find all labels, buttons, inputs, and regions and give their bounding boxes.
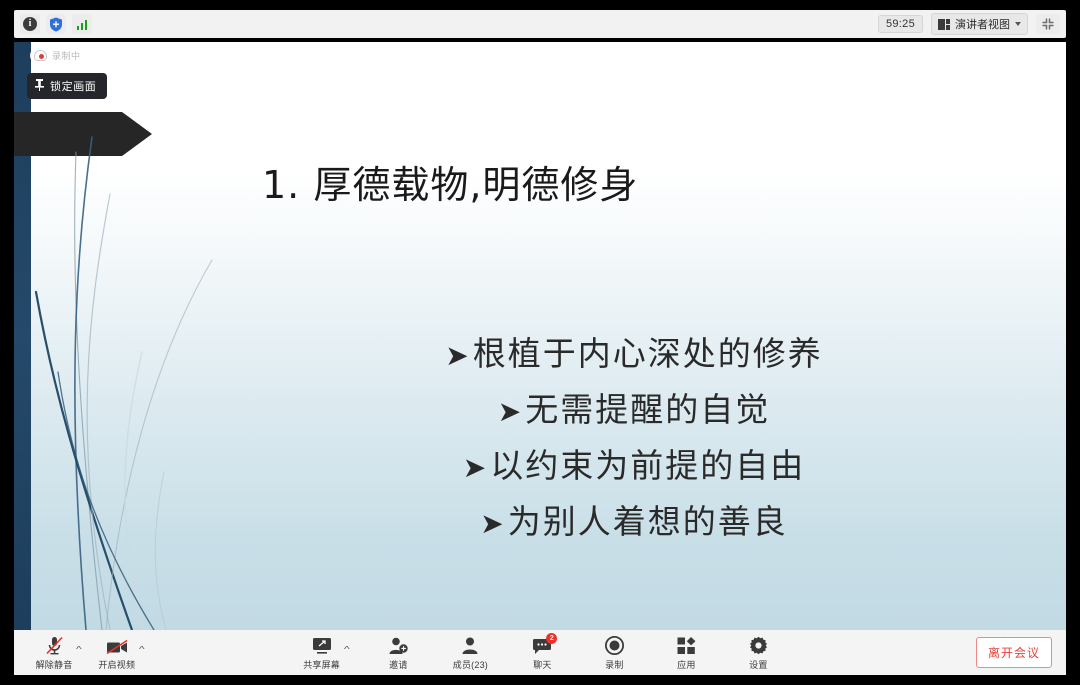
chat-button[interactable]: 2 聊天	[520, 635, 564, 671]
top-toolbar: i 59:25 演讲者视图	[14, 10, 1066, 38]
slide-bullet-list: ➤根植于内心深处的修养 ➤无需提醒的自觉 ➤以约束为前提的自由 ➤为别人着想的善…	[314, 327, 954, 551]
share-options-chevron-icon[interactable]: ^	[344, 645, 350, 654]
leave-meeting-button[interactable]: 离开会议	[976, 637, 1052, 668]
view-mode-label: 演讲者视图	[955, 16, 1010, 32]
slide-title: 1. 厚德载物,明德修身	[262, 154, 638, 209]
shield-security-icon[interactable]	[46, 14, 66, 34]
bullet-arrow-icon: ➤	[445, 339, 470, 372]
record-label: 录制	[605, 658, 623, 671]
settings-button[interactable]: 设置	[736, 635, 780, 671]
recording-label: 录制中	[52, 49, 81, 62]
share-screen-icon	[311, 635, 333, 655]
bullet-text: 无需提醒的自觉	[525, 390, 770, 429]
bullet-item: ➤以约束为前提的自由	[314, 439, 954, 495]
presentation-slide: 1. 厚德载物,明德修身 ➤根植于内心深处的修养 ➤无需提醒的自觉 ➤以约束为前…	[14, 42, 1066, 630]
leave-area: 离开会议	[976, 637, 1052, 668]
meeting-controls-bar: 解除静音 ^ 开启视频 ^	[14, 630, 1066, 675]
network-signal-icon[interactable]	[72, 14, 92, 34]
meeting-timer: 59:25	[878, 15, 923, 33]
invite-button[interactable]: 邀请	[376, 635, 420, 671]
bullet-arrow-icon: ➤	[498, 395, 523, 428]
settings-label: 设置	[749, 658, 767, 671]
bullet-arrow-icon: ➤	[463, 451, 488, 484]
bullet-text: 为别人着想的善良	[508, 502, 788, 541]
chat-label: 聊天	[533, 658, 551, 671]
pin-icon	[35, 79, 44, 94]
person-add-icon	[388, 635, 408, 655]
shared-screen-stage: 1. 厚德载物,明德修身 ➤根植于内心深处的修养 ➤无需提醒的自觉 ➤以约束为前…	[14, 42, 1066, 630]
recording-indicator[interactable]: 录制中	[30, 47, 88, 64]
bullet-item: ➤为别人着想的善良	[314, 495, 954, 551]
bullet-item: ➤根植于内心深处的修养	[314, 327, 954, 383]
chevron-down-icon	[1015, 22, 1021, 26]
info-icon[interactable]: i	[20, 14, 40, 34]
participants-button[interactable]: 成员(23)	[448, 635, 492, 671]
apps-button[interactable]: 应用	[664, 635, 708, 671]
share-screen-button[interactable]: 共享屏幕	[300, 635, 344, 671]
layout-icon	[938, 19, 950, 30]
share-screen-label: 共享屏幕	[303, 658, 340, 671]
invite-label: 邀请	[389, 658, 407, 671]
top-toolbar-left: i	[20, 14, 92, 34]
apps-grid-icon	[677, 635, 696, 655]
meeting-actions: 共享屏幕 ^ 邀请	[14, 635, 1066, 671]
bullet-arrow-icon: ➤	[480, 507, 505, 540]
apps-label: 应用	[677, 658, 695, 671]
chat-unread-badge: 2	[546, 633, 557, 644]
view-mode-selector[interactable]: 演讲者视图	[931, 13, 1028, 35]
lock-screen-tooltip[interactable]: 锁定画面	[27, 73, 107, 99]
participants-label: 成员(23)	[453, 658, 488, 671]
bullet-text: 以约束为前提的自由	[490, 446, 805, 485]
lock-screen-label: 锁定画面	[50, 78, 96, 94]
top-toolbar-right: 59:25 演讲者视图	[878, 13, 1060, 35]
bullet-item: ➤无需提醒的自觉	[314, 383, 954, 439]
meeting-window: i 59:25 演讲者视图	[0, 0, 1080, 685]
bullet-text: 根植于内心深处的修养	[473, 334, 823, 373]
recording-icon	[34, 50, 47, 61]
record-button[interactable]: 录制	[592, 635, 636, 671]
exit-fullscreen-icon[interactable]	[1036, 14, 1060, 34]
record-circle-icon	[605, 635, 624, 655]
people-icon	[460, 635, 480, 655]
gear-icon	[749, 635, 768, 655]
grass-decoration	[14, 42, 344, 630]
